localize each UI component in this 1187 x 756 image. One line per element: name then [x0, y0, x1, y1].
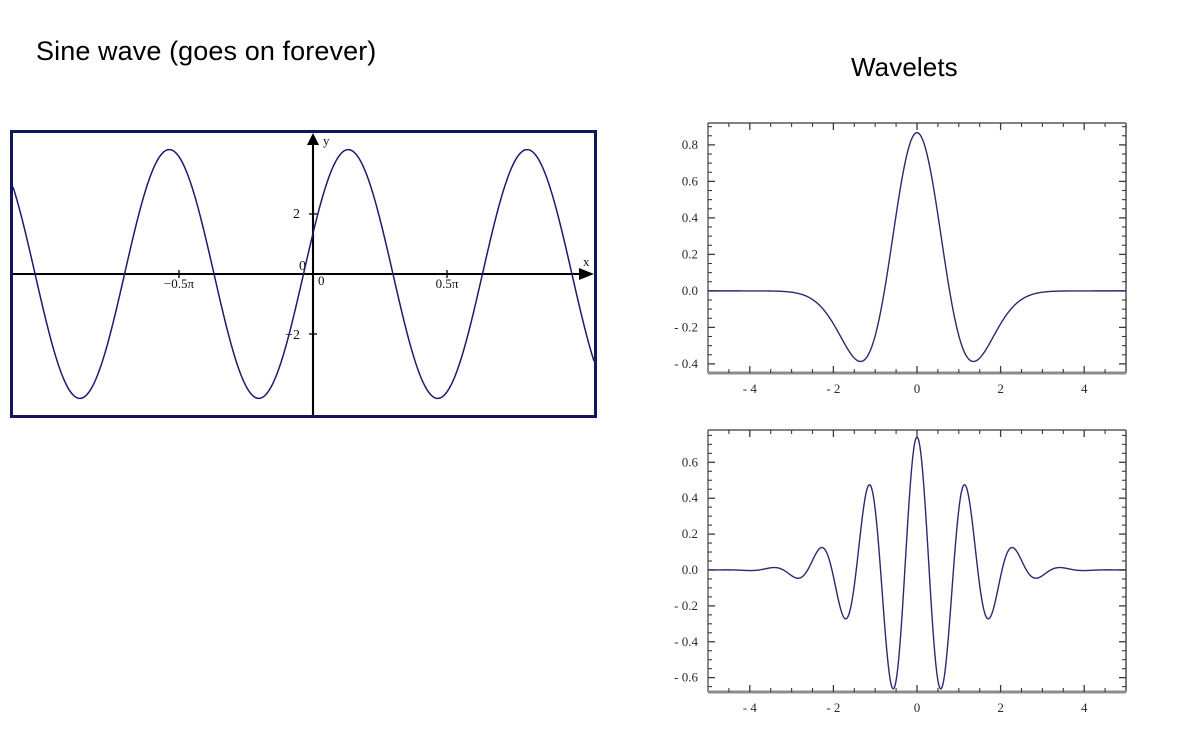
x-tick-label: 2	[997, 381, 1004, 396]
x-tick-label: 4	[1081, 381, 1088, 396]
sine-origin-label: 0	[318, 273, 325, 288]
y-tick-label: 0.0	[682, 283, 698, 298]
y-tick-label: 0.4	[682, 210, 699, 225]
x-tick-labels: - 4- 2024	[743, 381, 1088, 396]
plot-frame	[708, 430, 1126, 692]
wavelets-title: Wavelets	[851, 52, 958, 83]
y-tick-label: 0.2	[682, 526, 698, 541]
x-tick-label: - 2	[826, 381, 840, 396]
sine-wave-panel: y x 2 0 −2 −0.5π 0.5π 0	[10, 130, 597, 418]
sine-wave-chart: y x 2 0 −2 −0.5π 0.5π 0	[13, 133, 594, 415]
sine-y-axis-label: y	[323, 133, 330, 148]
sine-y-tick-2: 2	[293, 207, 300, 222]
y-tick-labels: - 0.4- 0.20.00.20.40.60.8	[674, 137, 698, 371]
sine-wave-title: Sine wave (goes on forever)	[36, 36, 376, 67]
y-tick-label: - 0.2	[674, 319, 698, 334]
mexican-hat-wavelet-chart: - 0.4- 0.20.00.20.40.60.8 - 4- 2024	[668, 112, 1138, 412]
y-tick-label: - 0.4	[674, 634, 698, 649]
x-tick-labels: - 4- 2024	[743, 700, 1088, 715]
x-tick-label: - 4	[743, 700, 758, 715]
y-tick-labels: - 0.6- 0.4- 0.20.00.20.40.6	[674, 454, 698, 684]
sine-x-axis-label: x	[583, 254, 590, 269]
plot-frame	[708, 123, 1126, 373]
x-tick-label: 0	[914, 700, 921, 715]
y-tick-label: - 0.6	[674, 670, 698, 685]
plot-tick-marks	[708, 430, 1126, 692]
morlet-wavelet-chart: - 0.6- 0.4- 0.20.00.20.40.6 - 4- 2024	[668, 420, 1138, 732]
y-tick-label: - 0.4	[674, 356, 698, 371]
y-tick-label: 0.6	[682, 173, 699, 188]
x-tick-label: 0	[914, 381, 921, 396]
x-tick-label: 4	[1081, 700, 1088, 715]
sine-x-tick-neg-half-pi: −0.5π	[164, 276, 195, 291]
y-tick-label: 0.4	[682, 490, 699, 505]
mexican-hat-wavelet-panel: - 0.4- 0.20.00.20.40.60.8 - 4- 2024	[668, 112, 1138, 412]
morlet-wavelet-panel: - 0.6- 0.4- 0.20.00.20.40.6 - 4- 2024	[668, 420, 1138, 732]
y-tick-label: 0.2	[682, 246, 698, 261]
x-tick-label: - 2	[826, 700, 840, 715]
x-tick-label: - 4	[743, 381, 758, 396]
y-tick-label: 0.8	[682, 137, 698, 152]
y-tick-label: - 0.2	[674, 598, 698, 613]
y-tick-label: 0.6	[682, 454, 699, 469]
sine-x-tick-half-pi: 0.5π	[436, 276, 459, 291]
x-tick-label: 2	[997, 700, 1004, 715]
wavelet-curve	[708, 133, 1126, 362]
plot-tick-marks	[708, 123, 1126, 373]
y-tick-label: 0.0	[682, 562, 698, 577]
wavelet-curve	[708, 437, 1126, 689]
